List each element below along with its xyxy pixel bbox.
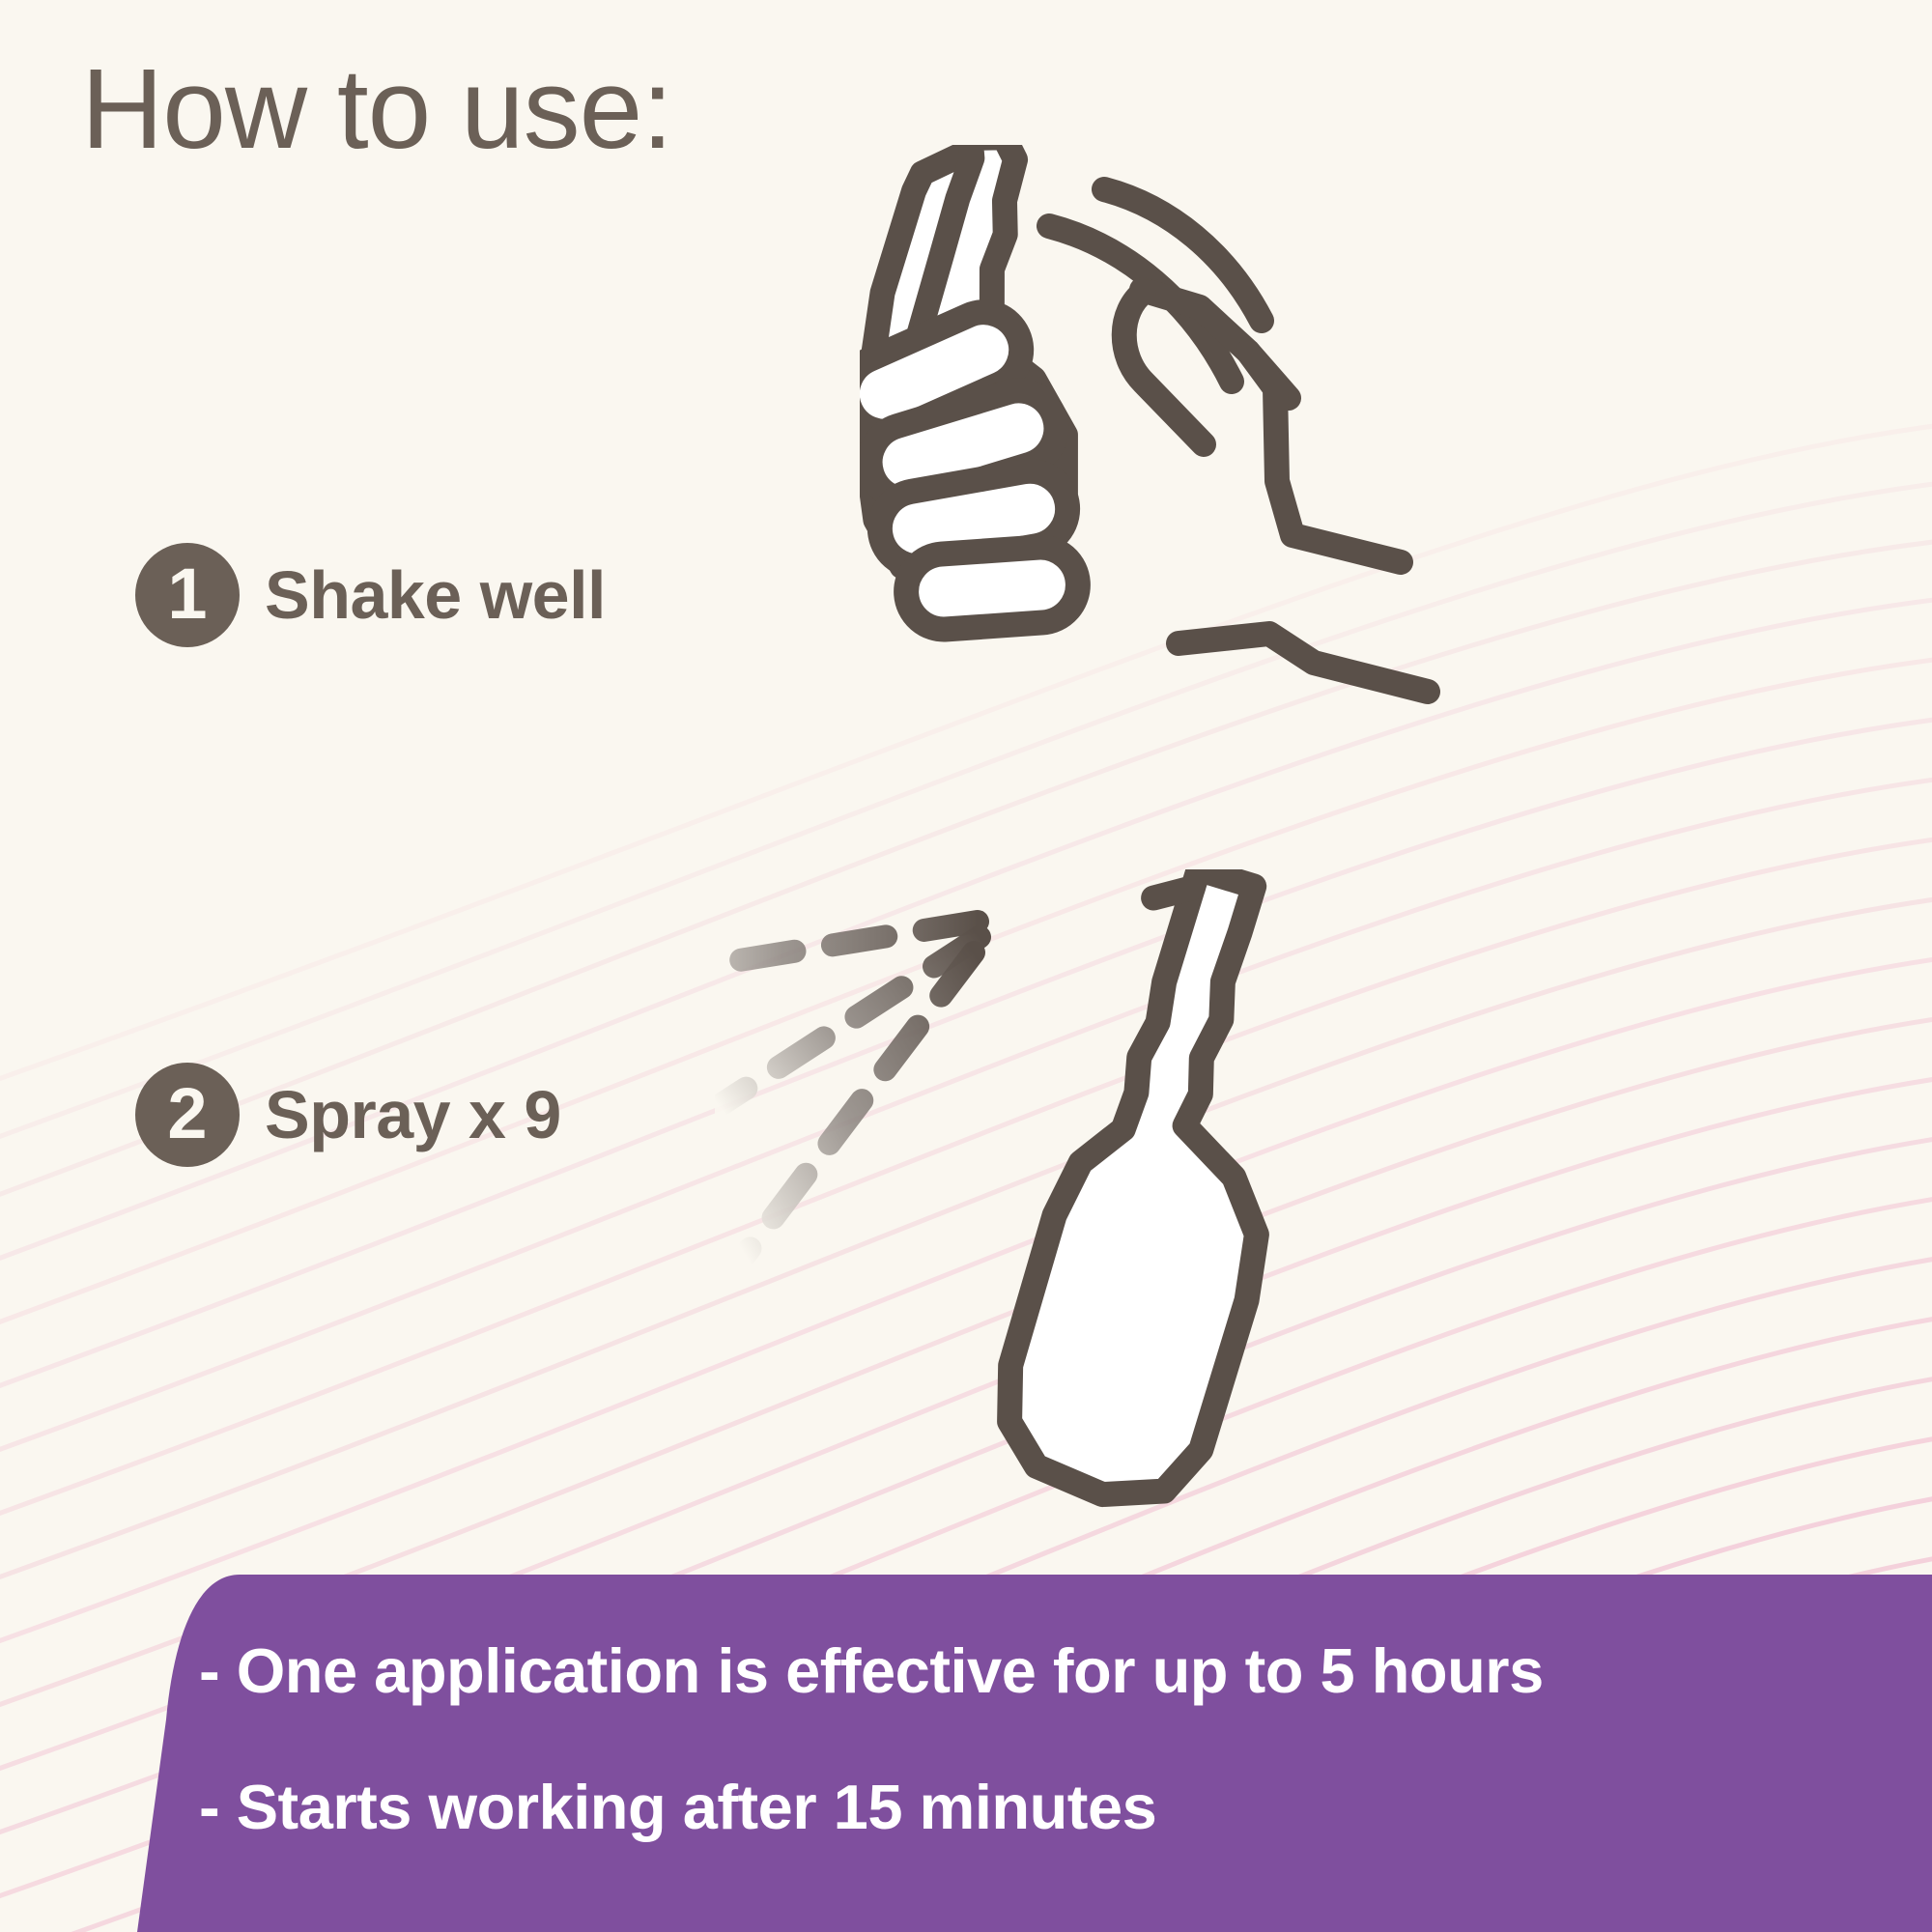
page-title: How to use:: [81, 50, 672, 170]
banner-line-2: - Starts working after 15 minutes: [199, 1771, 1899, 1843]
step-1-row: 1 Shake well: [135, 543, 606, 647]
step-1-badge: 1: [135, 543, 240, 647]
banner-line-1: - One application is effective for up to…: [199, 1634, 1899, 1707]
step-2-label: Spray x 9: [265, 1076, 561, 1153]
banner-text-block: - One application is effective for up to…: [199, 1634, 1899, 1843]
step-1-label: Shake well: [265, 556, 606, 634]
bottom-info-banner: - One application is effective for up to…: [0, 1575, 1932, 1932]
step-2-row: 2 Spray x 9: [135, 1063, 561, 1167]
how-to-use-infographic: How to use: 1 Shake well: [0, 0, 1932, 1932]
hand-shaking-spray-bottle-icon: [860, 145, 1633, 782]
spray-bottle-spraying-icon: [715, 869, 1449, 1546]
step-2-badge: 2: [135, 1063, 240, 1167]
